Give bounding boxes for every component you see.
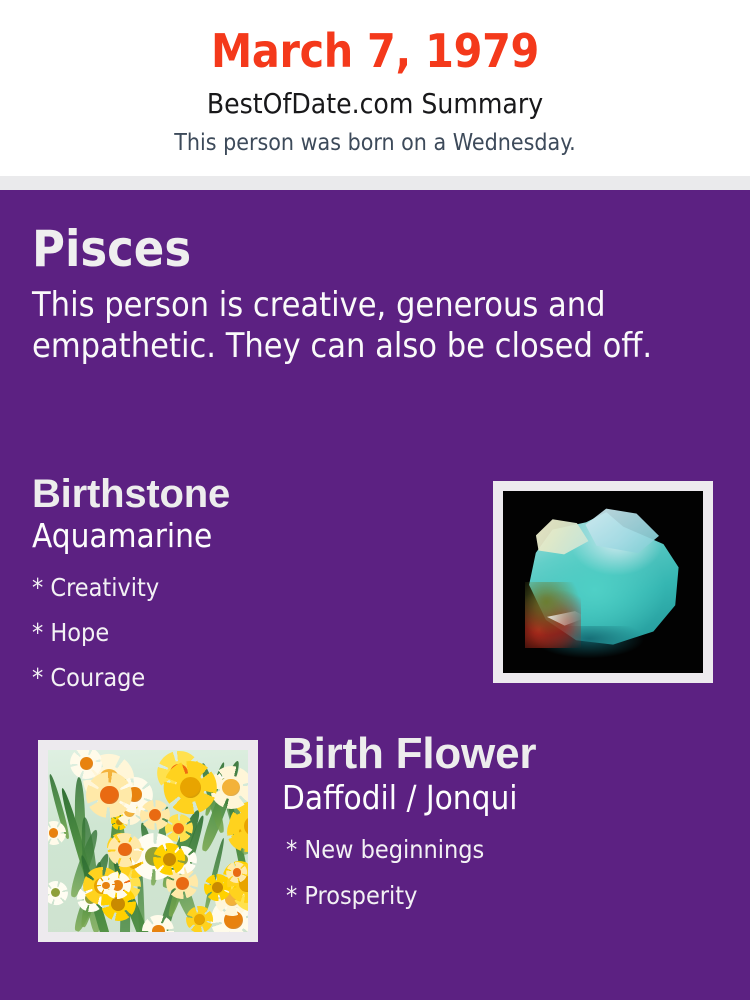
birth-flower-trait-list: * New beginnings * Prosperity	[282, 837, 722, 908]
daffodil-corona	[163, 853, 176, 866]
daffodil-bloom	[226, 862, 247, 883]
list-item: * New beginnings	[286, 837, 722, 862]
zodiac-sign-name: Pisces	[32, 223, 712, 276]
daffodil-bloom	[86, 772, 132, 818]
daffodil-corona	[80, 757, 93, 770]
birthstone-heading: Birthstone	[32, 473, 472, 516]
daffodil-corona	[233, 868, 242, 877]
birthstone-trait-list: * Creativity * Hope * Courage	[32, 575, 472, 690]
birthstone-image-frame	[493, 481, 713, 683]
daffodil-bloom	[97, 876, 115, 894]
daffodil-bloom	[140, 800, 170, 830]
daffodil-corona	[152, 925, 165, 932]
zodiac-description: This person is creative, generous and em…	[32, 285, 704, 368]
header-divider	[0, 176, 750, 190]
birth-flower-image	[48, 750, 248, 932]
daffodil-corona	[194, 914, 205, 925]
daffodil-bloom	[108, 833, 142, 867]
born-day-text: This person was born on a Wednesday.	[0, 118, 750, 155]
card-header: March 7, 1979 BestOfDate.com Summary Thi…	[0, 0, 750, 176]
daffodil-bloom	[48, 881, 67, 905]
birth-flower-name: Daffodil / Jonqui	[282, 780, 722, 817]
daffodil-corona	[212, 882, 223, 893]
list-item: * Hope	[32, 620, 472, 645]
page-title: March 7, 1979	[0, 0, 750, 74]
list-item: * Prosperity	[286, 883, 722, 908]
birth-flower-heading: Birth Flower	[282, 730, 722, 778]
daffodil-corona	[176, 877, 189, 890]
aquamarine-crystal-icon	[503, 491, 703, 673]
main-content-panel: Pisces This person is creative, generous…	[0, 190, 750, 1000]
daffodil-bloom	[48, 821, 66, 845]
birth-flower-image-frame	[38, 740, 258, 942]
birthday-summary-card: March 7, 1979 BestOfDate.com Summary Thi…	[0, 0, 750, 1000]
daffodil-corona	[149, 809, 161, 821]
daffodil-bloom	[186, 906, 213, 932]
daffodil-field-icon	[48, 750, 248, 932]
birthstone-name: Aquamarine	[32, 518, 472, 555]
daffodil-corona	[180, 777, 201, 798]
list-item: * Courage	[32, 665, 472, 690]
birthstone-image	[503, 491, 703, 673]
list-item: * Creativity	[32, 575, 472, 600]
birthstone-section: Birthstone Aquamarine * Creativity * Hop…	[32, 473, 472, 690]
daffodil-corona	[118, 843, 131, 856]
daffodil-corona	[102, 882, 109, 889]
daffodil-bloom	[164, 761, 217, 814]
zodiac-section: Pisces This person is creative, generous…	[32, 223, 712, 367]
daffodil-corona	[100, 786, 118, 804]
daffodil-corona	[222, 779, 239, 796]
birth-flower-section: Birth Flower Daffodil / Jonqui * New beg…	[282, 730, 722, 908]
daffodil-corona	[173, 823, 184, 834]
site-summary-label: BestOfDate.com Summary	[0, 74, 750, 118]
